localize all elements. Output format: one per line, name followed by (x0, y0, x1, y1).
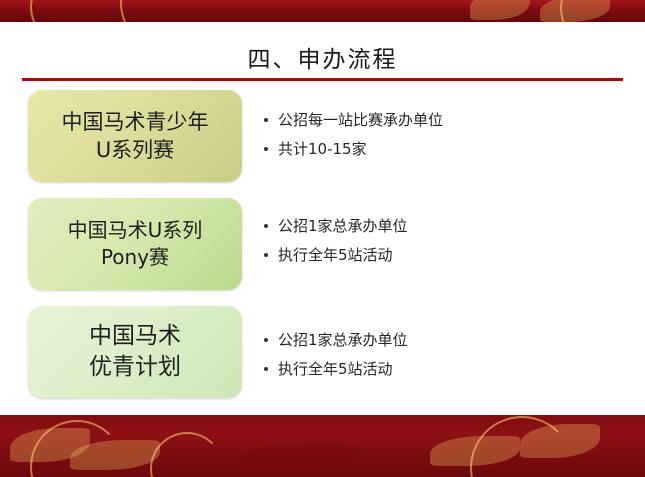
process-rows: 中国马术青少年 U系列赛 公招每一站比赛承办单位 共计10-15家 中国马术U系… (0, 90, 645, 414)
process-row: 中国马术 优青计划 公招1家总承办单位 执行全年5站活动 (0, 306, 645, 406)
process-stage-label-line: U系列赛 (62, 136, 209, 164)
process-row: 中国马术U系列 Pony赛 公招1家总承办单位 执行全年5站活动 (0, 198, 645, 298)
process-stage-chip[interactable]: 中国马术青少年 U系列赛 (28, 90, 242, 182)
list-item: 共计10-15家 (262, 135, 622, 164)
decorative-bottom-band (0, 410, 645, 477)
list-item: 公招每一站比赛承办单位 (262, 106, 622, 135)
leaf-ornament-icon (240, 444, 360, 470)
list-item: 执行全年5站活动 (262, 241, 622, 270)
process-stage-label-line: 中国马术U系列 (68, 217, 203, 244)
process-stage-chip[interactable]: 中国马术U系列 Pony赛 (28, 198, 242, 290)
process-bullet-list: 公招1家总承办单位 执行全年5站活动 (262, 326, 622, 385)
list-item: 公招1家总承办单位 (262, 212, 622, 241)
process-bullet-list: 公招每一站比赛承办单位 共计10-15家 (262, 106, 622, 165)
decorative-top-band (0, 0, 645, 24)
list-item: 执行全年5站活动 (262, 355, 622, 384)
swirl-ornament-icon (150, 432, 224, 477)
slide-canvas: 四、申办流程 中国马术青少年 U系列赛 公招每一站比赛承办单位 共计10-15家 (0, 22, 645, 415)
swirl-ornament-icon (120, 0, 214, 24)
leaf-ornament-icon (470, 0, 530, 20)
title-divider (22, 78, 623, 81)
slide: 四、申办流程 中国马术青少年 U系列赛 公招每一站比赛承办单位 共计10-15家 (0, 0, 645, 477)
process-stage-label-line: 优青计划 (89, 352, 181, 383)
swirl-ornament-icon (560, 0, 644, 24)
process-stage-label-line: Pony赛 (68, 244, 203, 271)
process-stage-label-line: 中国马术 (89, 321, 181, 352)
swirl-ornament-icon (30, 0, 104, 24)
page-title: 四、申办流程 (0, 40, 645, 74)
list-item: 公招1家总承办单位 (262, 326, 622, 355)
process-stage-label-line: 中国马术青少年 (62, 108, 209, 136)
process-bullet-list: 公招1家总承办单位 执行全年5站活动 (262, 212, 622, 271)
process-row: 中国马术青少年 U系列赛 公招每一站比赛承办单位 共计10-15家 (0, 90, 645, 190)
process-stage-chip[interactable]: 中国马术 优青计划 (28, 306, 242, 398)
